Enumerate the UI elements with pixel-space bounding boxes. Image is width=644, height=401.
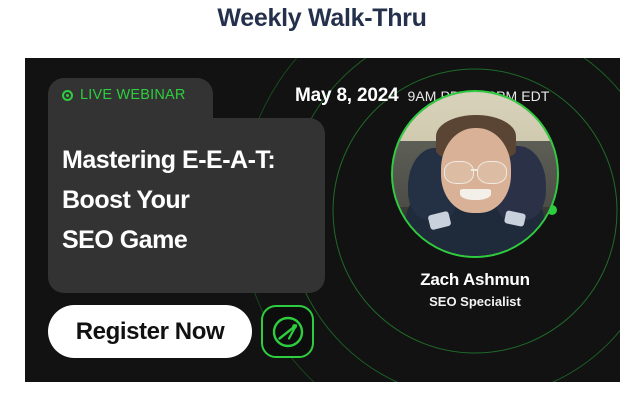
speaker-name: Zach Ashmun: [355, 270, 595, 290]
headline-line-3: SEO Game: [62, 220, 312, 260]
cta-row: Register Now: [48, 305, 314, 358]
avatar-photo-glasses-left: [444, 161, 474, 184]
avatar-photo-glasses-bridge: [471, 169, 478, 171]
info-panel: LIVE WEBINAR Mastering E-E-A-T: Boost Yo…: [48, 78, 325, 293]
semrush-logo-icon[interactable]: [261, 305, 314, 358]
live-webinar-label: LIVE WEBINAR: [80, 87, 186, 103]
avatar-photo-glasses-right: [477, 161, 507, 184]
speaker-role: SEO Specialist: [355, 294, 595, 309]
headline-line-1: Mastering E-E-A-T:: [62, 140, 312, 180]
headline-line-2: Boost Your: [62, 180, 312, 220]
semrush-mark: [270, 314, 306, 350]
live-webinar-badge: LIVE WEBINAR: [62, 87, 186, 103]
page-title: Weekly Walk-Thru: [0, 4, 644, 33]
speaker-block: Zach Ashmun SEO Specialist: [355, 90, 595, 309]
live-dot-icon: [62, 90, 73, 101]
avatar: [391, 90, 559, 258]
headline: Mastering E-E-A-T: Boost Your SEO Game: [62, 140, 312, 260]
register-now-button[interactable]: Register Now: [48, 305, 252, 358]
webinar-promo-card: LIVE WEBINAR Mastering E-E-A-T: Boost Yo…: [25, 58, 620, 382]
